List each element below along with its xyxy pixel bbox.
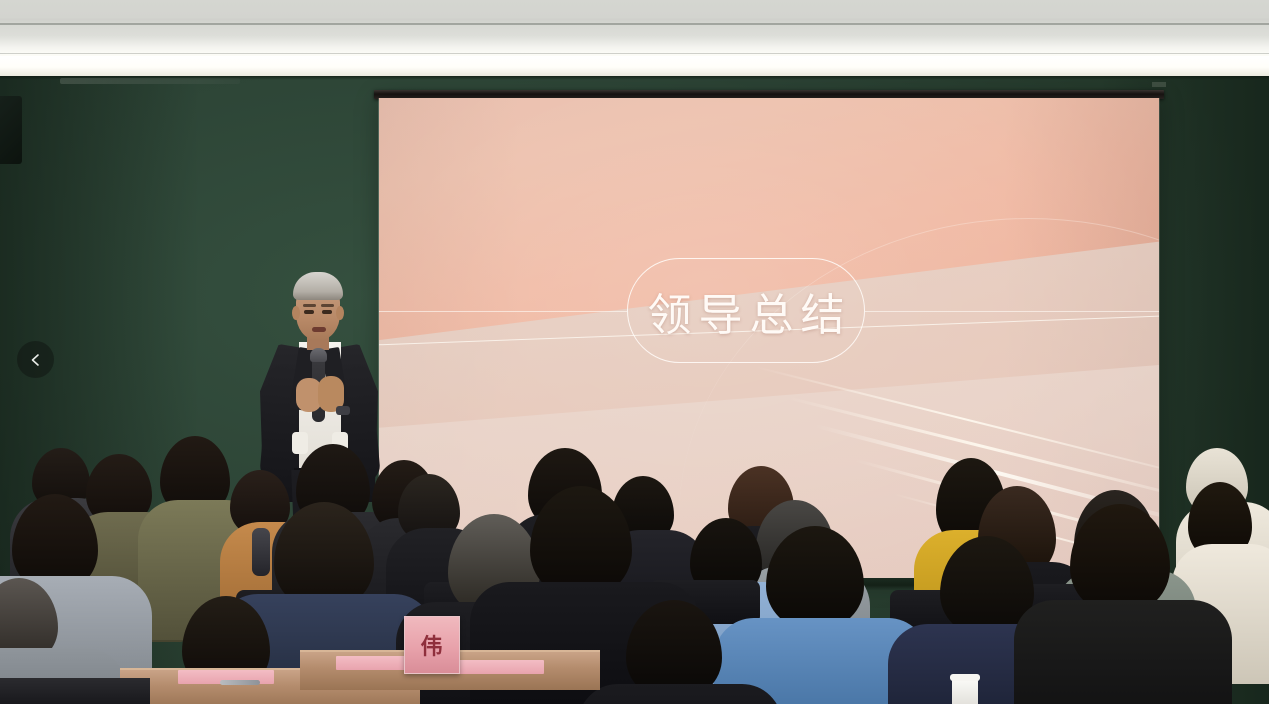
wall-speaker xyxy=(0,96,22,164)
paper-cup xyxy=(952,678,978,704)
ceiling-seam xyxy=(0,53,1269,54)
slide-title-pill: 领导总结 xyxy=(627,258,865,363)
attendee-hair xyxy=(1070,504,1170,614)
presenter-wristwatch xyxy=(336,406,350,415)
microphone-head xyxy=(310,348,327,362)
attendee-body xyxy=(578,684,782,704)
slide-rule-left xyxy=(379,311,627,312)
paper-cup-lid xyxy=(950,674,980,681)
attendee-hair xyxy=(766,526,864,630)
ceiling-seam xyxy=(0,23,1269,25)
presenter-hair xyxy=(293,272,343,300)
wall-plate xyxy=(1152,82,1166,87)
slide-rule-right xyxy=(865,311,1160,312)
previous-image-button[interactable] xyxy=(17,341,54,378)
screenshot-root: 领导总结 xyxy=(0,0,1269,704)
presenter-mouth xyxy=(312,327,326,332)
name-placard: 伟 xyxy=(404,616,460,674)
audience: 伟 xyxy=(0,430,1269,704)
slide-title: 领导总结 xyxy=(641,279,852,343)
presenter-eyebrow-right xyxy=(321,304,334,307)
desk-front-panel xyxy=(0,678,150,704)
handheld-device xyxy=(252,528,270,576)
presenter-ear-right xyxy=(336,306,344,320)
presenter-eye-right xyxy=(322,310,332,314)
presenter-eyebrow-left xyxy=(303,304,316,307)
ceiling-light-strip xyxy=(0,56,1269,76)
name-placard-text: 伟 xyxy=(420,629,443,661)
desk-pen xyxy=(220,680,260,685)
attendee-body xyxy=(1014,600,1232,704)
desk-paper xyxy=(454,660,544,674)
presenter-eye-left xyxy=(304,310,314,314)
presenter-ear-left xyxy=(292,306,300,320)
chevron-left-icon xyxy=(29,353,43,367)
screen-mount-rail xyxy=(60,78,240,84)
